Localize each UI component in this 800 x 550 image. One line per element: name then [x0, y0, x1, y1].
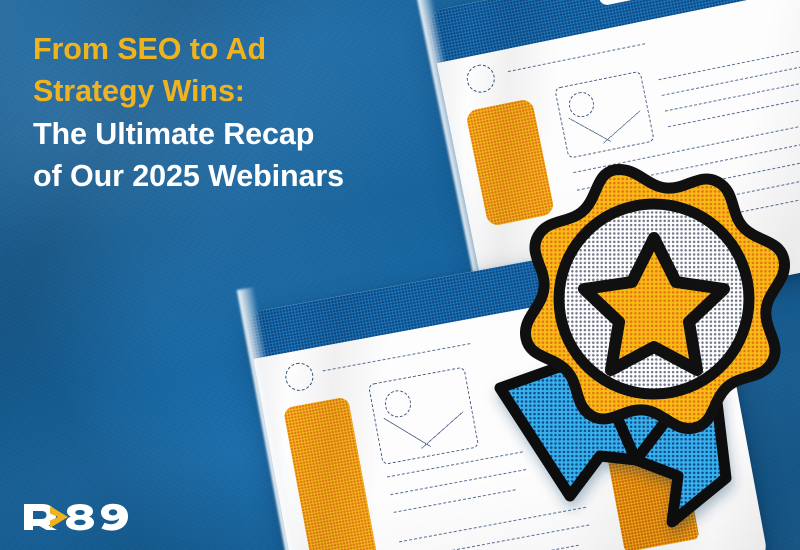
brand-logo[interactable]	[22, 502, 130, 532]
logo-digit-9	[101, 504, 128, 531]
headline-line-2: Strategy Wins:	[33, 70, 463, 112]
front-card-avatar-icon	[283, 360, 316, 393]
headline-line-1: From SEO to Ad	[33, 28, 463, 70]
back-card-text-line	[508, 43, 645, 72]
headline-line-4: of Our 2025 Webinars	[33, 155, 463, 197]
back-card-text-line	[658, 40, 800, 80]
back-card-avatar-icon	[464, 62, 497, 95]
banner-canvas: From SEO to Ad Strategy Wins: The Ultima…	[0, 0, 800, 550]
back-card-image-placeholder	[554, 71, 655, 159]
front-card-yellow-sidebar-block	[283, 396, 379, 550]
headline-line-3: The Ultimate Recap	[33, 113, 463, 155]
back-card-text-line	[665, 74, 800, 112]
back-card-title-bar	[426, 0, 800, 63]
back-card-text-line	[668, 87, 800, 127]
page-title: From SEO to Ad Strategy Wins: The Ultima…	[33, 28, 463, 198]
logo-digit-8	[66, 504, 94, 530]
award-rosette	[440, 160, 800, 550]
back-card-text-line	[662, 55, 800, 95]
